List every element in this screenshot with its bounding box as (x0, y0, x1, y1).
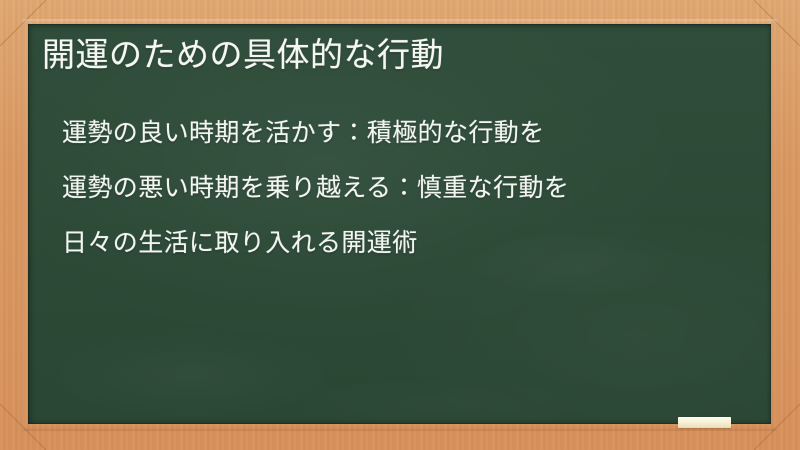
bullet-list: 運勢の良い時期を活かす：積極的な行動を 運勢の悪い時期を乗り越える：慎重な行動を… (62, 106, 753, 271)
list-item: 日々の生活に取り入れる開運術 (62, 216, 753, 271)
chalkboard-slide: 開運のための具体的な行動 運勢の良い時期を活かす：積極的な行動を 運勢の悪い時期… (0, 0, 800, 450)
blackboard-content: 開運のための具体的な行動 運勢の良い時期を活かす：積極的な行動を 運勢の悪い時期… (28, 24, 771, 424)
blackboard-surface: 開運のための具体的な行動 運勢の良い時期を活かす：積極的な行動を 運勢の悪い時期… (28, 24, 771, 424)
list-item: 運勢の悪い時期を乗り越える：慎重な行動を (62, 161, 753, 216)
list-item: 運勢の良い時期を活かす：積極的な行動を (62, 106, 753, 161)
chalk-stick-icon (678, 417, 731, 428)
page-title: 開運のための具体的な行動 (42, 34, 753, 75)
